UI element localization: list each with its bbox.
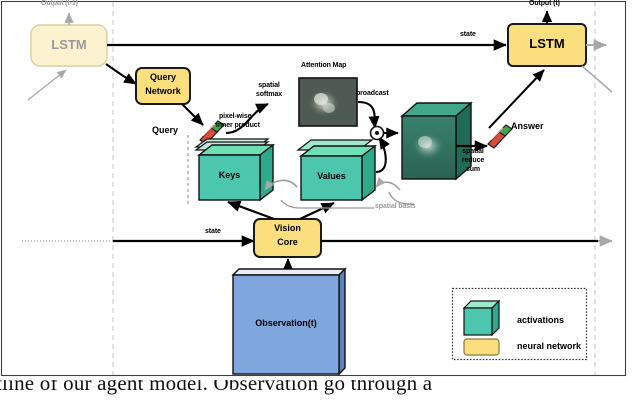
spatial-basis-leader-elbow — [281, 200, 300, 208]
spatial-reduce-label-line1: spatial — [452, 148, 494, 155]
broadcast-label: broadcast — [356, 90, 389, 97]
state-bottom-label: state — [205, 228, 221, 235]
state-top-label: state — [460, 31, 476, 38]
product-node — [371, 127, 384, 140]
query-vector-label: Query — [152, 125, 178, 135]
output-prev-label: Output (t-1) — [41, 0, 78, 7]
spatial-reduce-label-line3: sum — [452, 166, 494, 173]
vision-core-label-line1: Vision — [254, 223, 321, 233]
figure-caption-text: tline of our agent model. Observation go… — [0, 380, 432, 395]
lstm-to-query-network-arrow — [106, 64, 136, 84]
legend-label-neural-network: neural network — [517, 341, 581, 351]
pixel-wise-label-line2: inner product — [216, 122, 260, 129]
values-label: Values — [301, 171, 362, 181]
spatial-basis-to-values-arrow — [376, 182, 400, 190]
spatial-softmax-label-line2: softmax — [248, 91, 290, 98]
attention-map-label: Attention Map — [301, 62, 346, 69]
query-network-label-line1: Query — [136, 72, 190, 82]
vision-core-to-values-arrow — [300, 203, 334, 219]
query-network-to-query-arrow — [182, 104, 203, 125]
legend-swatch-activations-icon — [464, 301, 499, 335]
lstm-prev-label: LSTM — [31, 37, 107, 52]
broadcast-arrow — [358, 102, 375, 128]
spatial-reduce-label-line2: reduce — [452, 157, 494, 164]
answer-to-lstm-arrow — [489, 70, 544, 128]
values-to-product-arrow — [376, 137, 386, 172]
legend-label-activations: activations — [517, 315, 564, 325]
lstm-curr-recurrent-out — [582, 66, 612, 92]
lstm-curr-label: LSTM — [508, 36, 586, 51]
attention-map-glyph — [299, 78, 357, 126]
output-curr-label: Output (t) — [529, 0, 560, 7]
answer-label: Answer — [511, 121, 544, 131]
spatial-basis-label: spatial basis — [375, 203, 416, 210]
pixel-wise-label-line1: pixel-wise — [219, 113, 251, 120]
answer-vector-glyph — [488, 125, 512, 148]
legend-swatch-neural-network-icon — [464, 339, 499, 355]
lstm-prev-input-arrow — [28, 70, 66, 100]
diagram-canvas: Output (t-1) LSTM Output (t) LSTM state … — [0, 0, 640, 406]
figure-caption: tline of our agent model. Observation go… — [0, 380, 640, 406]
vision-core-label-line2: Core — [254, 237, 321, 247]
observation-label: Observation(t) — [233, 318, 339, 328]
keys-label: Keys — [199, 170, 260, 180]
query-network-label-line2: Network — [136, 86, 190, 96]
vision-core-to-keys-arrow — [228, 202, 274, 219]
spatial-softmax-label-line1: spatial — [248, 82, 290, 89]
values-cube — [298, 140, 375, 200]
